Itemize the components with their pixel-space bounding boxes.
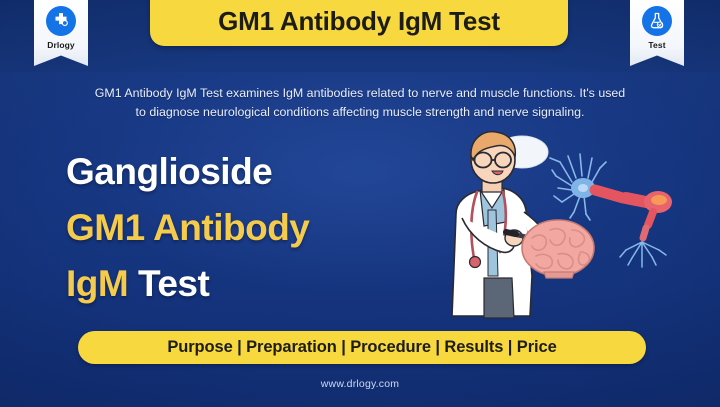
flask-icon [642,6,672,36]
description-line-1: GM1 Antibody IgM Test examines IgM antib… [50,84,670,103]
description-block: GM1 Antibody IgM Test examines IgM antib… [50,84,670,122]
test-badge-label: Test [648,40,665,50]
neuron-nucleus [578,184,588,192]
headline-line-3-yellow: IgM [66,263,128,304]
title-banner: GM1 Antibody IgM Test [150,0,568,46]
stethoscope-chestpiece [470,257,481,268]
brain [522,220,594,278]
headline-block: Ganglioside GM1 Antibody IgM Test [66,144,446,312]
poster-canvas: GM1 Antibody IgM Test Drlogy Test GM1 An… [0,0,720,407]
headline-line-2: GM1 Antibody [66,200,446,256]
page-title: GM1 Antibody IgM Test [218,6,500,37]
brain-stem [544,272,574,278]
description-line-2: to diagnose neurological conditions affe… [50,103,670,122]
drlogy-logo-icon [46,6,76,36]
headline-line-3: IgM Test [66,256,446,312]
headline-line-1: Ganglioside [66,144,446,200]
doctor-brain-neuron-illustration [440,126,718,332]
topics-bar[interactable]: Purpose | Preparation | Procedure | Resu… [78,331,646,364]
headline-line-3-white: Test [138,263,209,304]
neuron-axon [595,190,672,267]
drlogy-badge-label: Drlogy [47,40,75,50]
topics-bar-label: Purpose | Preparation | Procedure | Resu… [167,338,556,357]
footer-url[interactable]: www.drlogy.com [0,378,720,390]
